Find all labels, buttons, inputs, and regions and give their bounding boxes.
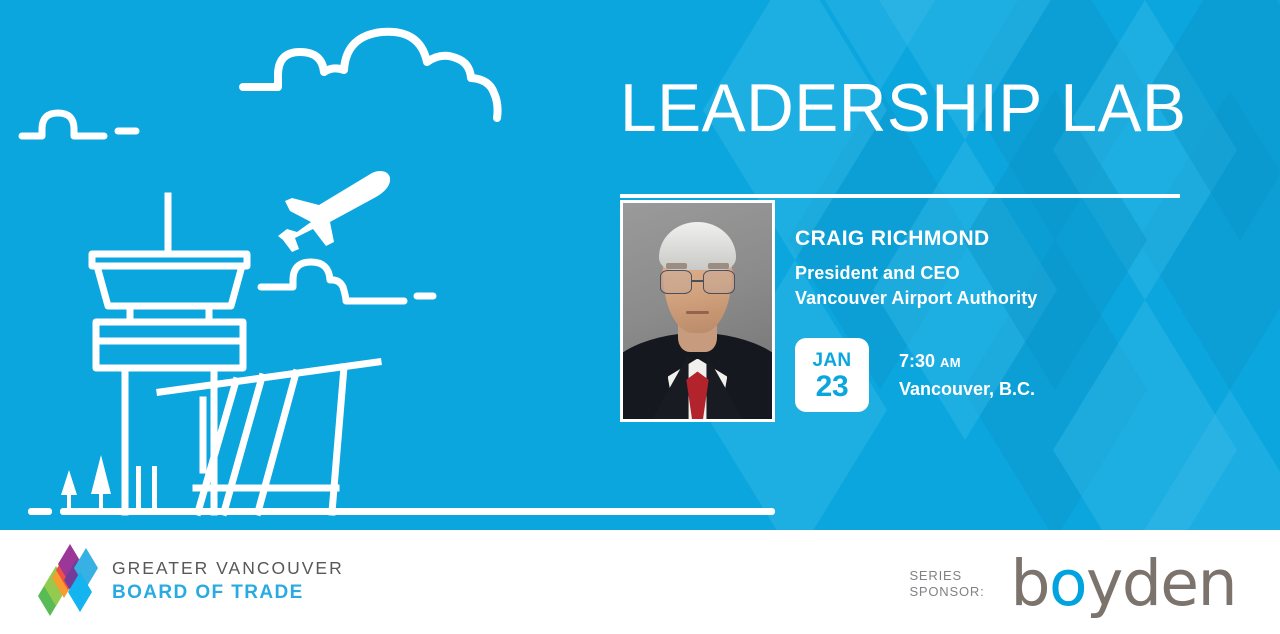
photo-brow-left [666, 263, 687, 268]
gvbot-line-2: BOARD OF TRADE [112, 583, 344, 602]
light-poles-icon [136, 466, 157, 512]
gvbot-line-1: GREATER VANCOUVER [112, 560, 344, 578]
airplane-icon [278, 171, 390, 252]
speaker-photo-frame [620, 200, 775, 422]
sponsor-label-line-2: SPONSOR: [909, 584, 984, 600]
event-details: JAN 23 7:30 AM Vancouver, B.C. [795, 338, 1035, 412]
sponsor-label: SERIES SPONSOR: [909, 568, 984, 600]
page-title: LEADERSHIP LAB [620, 72, 1183, 144]
title-divider [620, 194, 1180, 198]
photo-brow-right [708, 263, 729, 268]
sponsor-label-line-1: SERIES [909, 568, 984, 584]
cloud-large-icon [243, 32, 498, 118]
hero-banner: LEADERSHIP LAB [0, 0, 1280, 530]
date-badge: JAN 23 [795, 338, 869, 412]
event-meridiem: AM [940, 355, 961, 370]
terminal-building-icon [160, 362, 378, 512]
cloud-medium-icon [261, 262, 433, 301]
speaker-title: President and CEO [795, 261, 1195, 286]
event-time-value: 7:30 [899, 351, 935, 371]
event-when-where: 7:30 AM Vancouver, B.C. [899, 348, 1035, 403]
event-location: Vancouver, B.C. [899, 376, 1035, 403]
boyden-part-1: b [1010, 547, 1049, 620]
footer-bar: GREATER VANCOUVER BOARD OF TRADE SERIES … [0, 530, 1280, 634]
event-time: 7:30 AM [899, 348, 1035, 376]
cloud-small-icon [22, 113, 136, 136]
leadership-lab-poster: LEADERSHIP LAB [0, 0, 1280, 634]
photo-glasses [660, 270, 735, 294]
photo-glasses-bridge [692, 280, 704, 282]
photo-mouth [686, 311, 708, 314]
photo-lens-right [703, 270, 734, 294]
gvbot-diamonds-logo-icon [38, 542, 100, 620]
gvbot-wordmark: GREATER VANCOUVER BOARD OF TRADE [112, 560, 344, 602]
boyden-logo: boyden [1010, 556, 1236, 612]
speaker-name: CRAIG RICHMOND [795, 226, 1195, 252]
boyden-part-2: o [1049, 547, 1086, 620]
event-month: JAN [813, 351, 852, 371]
event-day: 23 [816, 371, 849, 402]
avatar [623, 203, 772, 419]
control-tower-icon [92, 196, 247, 512]
series-sponsor[interactable]: SERIES SPONSOR: boyden [909, 556, 1236, 612]
speaker-details: CRAIG RICHMOND President and CEO Vancouv… [795, 226, 1195, 311]
trees-icon [61, 455, 111, 512]
photo-lens-left [660, 270, 691, 294]
gvbot-logo[interactable]: GREATER VANCOUVER BOARD OF TRADE [38, 542, 344, 620]
boyden-part-3: yden [1086, 547, 1236, 620]
speaker-organization: Vancouver Airport Authority [795, 286, 1195, 311]
hero-content: LEADERSHIP LAB [620, 0, 1220, 530]
